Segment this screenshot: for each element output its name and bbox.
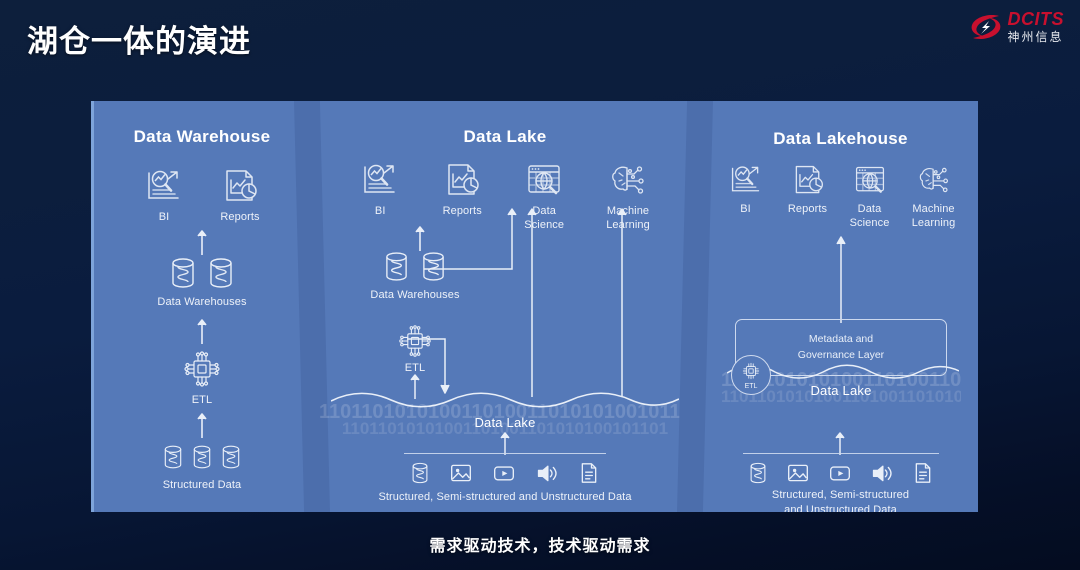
column-title-warehouse: Data Warehouse	[91, 127, 313, 147]
video-icon	[493, 462, 515, 484]
lake-label: Data Lake	[319, 415, 691, 430]
lakehouse-sources-rule	[743, 453, 939, 454]
data-science-globe-icon	[524, 161, 564, 199]
database-cylinder-icon	[384, 251, 409, 282]
lakehouse-arrow-metadata-to-consumers	[834, 231, 848, 323]
report-document-icon	[220, 167, 260, 205]
lakehouse-consumer-data-science-label: DataScience	[850, 203, 890, 231]
machine-learning-brain-icon	[608, 161, 648, 199]
swoosh-icon	[969, 11, 1003, 43]
lake-sources-rule	[404, 453, 606, 454]
report-document-icon	[790, 163, 826, 197]
audio-icon	[536, 462, 558, 484]
warehouse-consumer-reports: Reports	[220, 167, 260, 225]
lake-arrow-sources-to-lake	[499, 431, 511, 455]
warehouse-arrow-store-to-consumers	[91, 229, 313, 255]
image-icon	[787, 462, 809, 484]
lakehouse-consumer-machine-learning: MachineLearning	[906, 163, 962, 231]
report-document-icon	[442, 161, 482, 199]
brand-logo: DCITS 神州信息	[969, 10, 1065, 43]
column-data-lakehouse: Data Lakehouse BI	[703, 101, 978, 512]
lakehouse-source-icon-row	[703, 462, 978, 484]
lakehouse-consumer-reports: Reports	[782, 163, 834, 231]
logo-name-cn: 神州信息	[1008, 31, 1065, 43]
audio-icon	[871, 462, 893, 484]
logo-name-en: DCITS	[1008, 10, 1065, 28]
lake-source-label: Structured, Semi-structured and Unstruct…	[319, 491, 691, 503]
warehouse-arrow-etl-to-store	[91, 318, 313, 344]
database-cylinder-icon	[208, 257, 234, 289]
lakehouse-consumer-machine-learning-label: MachineLearning	[912, 203, 956, 231]
image-icon	[450, 462, 472, 484]
lake-source-icon-row	[319, 462, 691, 484]
column-title-lakehouse: Data Lakehouse	[703, 129, 978, 149]
lakehouse-consumer-bi: BI	[720, 163, 772, 231]
warehouse-consumer-row: BI Reports	[91, 167, 313, 225]
document-icon	[579, 462, 599, 484]
column-data-warehouse: Data Warehouse BI	[91, 101, 313, 512]
lakehouse-source-line1: Structured, Semi-structured	[703, 489, 978, 501]
warehouse-store-icons	[170, 257, 234, 289]
document-icon	[913, 462, 933, 484]
warehouse-consumer-reports-label: Reports	[220, 211, 259, 225]
database-cylinder-icon	[163, 443, 183, 471]
database-cylinder-icon	[749, 462, 767, 484]
bi-chart-magnifier-icon	[360, 161, 400, 199]
page-title: 湖仓一体的演进	[27, 16, 251, 61]
warehouse-store-label: Data Warehouses	[157, 296, 246, 308]
warehouse-consumer-bi-label: BI	[159, 211, 170, 225]
video-icon	[829, 462, 851, 484]
warehouse-etl-node: ETL	[91, 349, 313, 406]
warehouse-etl-label: ETL	[192, 394, 212, 406]
database-cylinder-icon	[411, 462, 429, 484]
warehouse-store-node: Data Warehouses	[91, 257, 313, 308]
column-title-lake: Data Lake	[319, 127, 691, 147]
lake-consumer-bi: BI	[360, 161, 400, 233]
warehouse-consumer-bi: BI	[144, 167, 184, 225]
data-science-globe-icon	[852, 163, 888, 197]
lakehouse-lake-block: 11011010101001101001101010100101 1101101…	[721, 319, 961, 431]
database-cylinder-icon	[221, 443, 241, 471]
lake-store-label: Data Warehouses	[370, 289, 459, 301]
database-cylinder-icon	[192, 443, 212, 471]
machine-learning-brain-icon	[916, 163, 952, 197]
warehouse-source-node: Structured Data	[91, 443, 313, 491]
bi-chart-magnifier-icon	[144, 167, 184, 205]
lake-arrow-to-data-science	[524, 201, 540, 397]
lakehouse-consumer-row: BI Reports	[703, 163, 978, 231]
warehouse-arrow-source-to-etl	[91, 412, 313, 438]
bi-chart-magnifier-icon	[728, 163, 764, 197]
warehouse-source-label: Structured Data	[163, 479, 242, 491]
lake-arrow-to-machine-learning	[614, 201, 630, 397]
chip-etl-icon	[740, 360, 762, 382]
lakehouse-metadata-line1: Metadata and	[809, 332, 873, 347]
lake-consumer-bi-label: BI	[375, 205, 386, 219]
database-cylinder-icon	[170, 257, 196, 289]
lakehouse-source-line2: and Unstructured Data	[703, 504, 978, 512]
warehouse-source-icons	[163, 443, 241, 471]
lakehouse-consumer-bi-label: BI	[740, 203, 751, 217]
lakehouse-lake-label: Data Lake	[721, 383, 961, 398]
lakehouse-consumer-reports-label: Reports	[788, 203, 827, 217]
chip-etl-icon	[182, 349, 222, 389]
lakehouse-arrow-sources-to-lake	[834, 431, 846, 455]
column-data-lake: Data Lake BI	[319, 101, 691, 512]
evolution-diagram-panel: Data Warehouse BI	[91, 101, 978, 512]
slide-footer-text: 需求驱动技术，技术驱动需求	[0, 532, 1080, 556]
lakehouse-consumer-data-science: DataScience	[844, 163, 896, 231]
